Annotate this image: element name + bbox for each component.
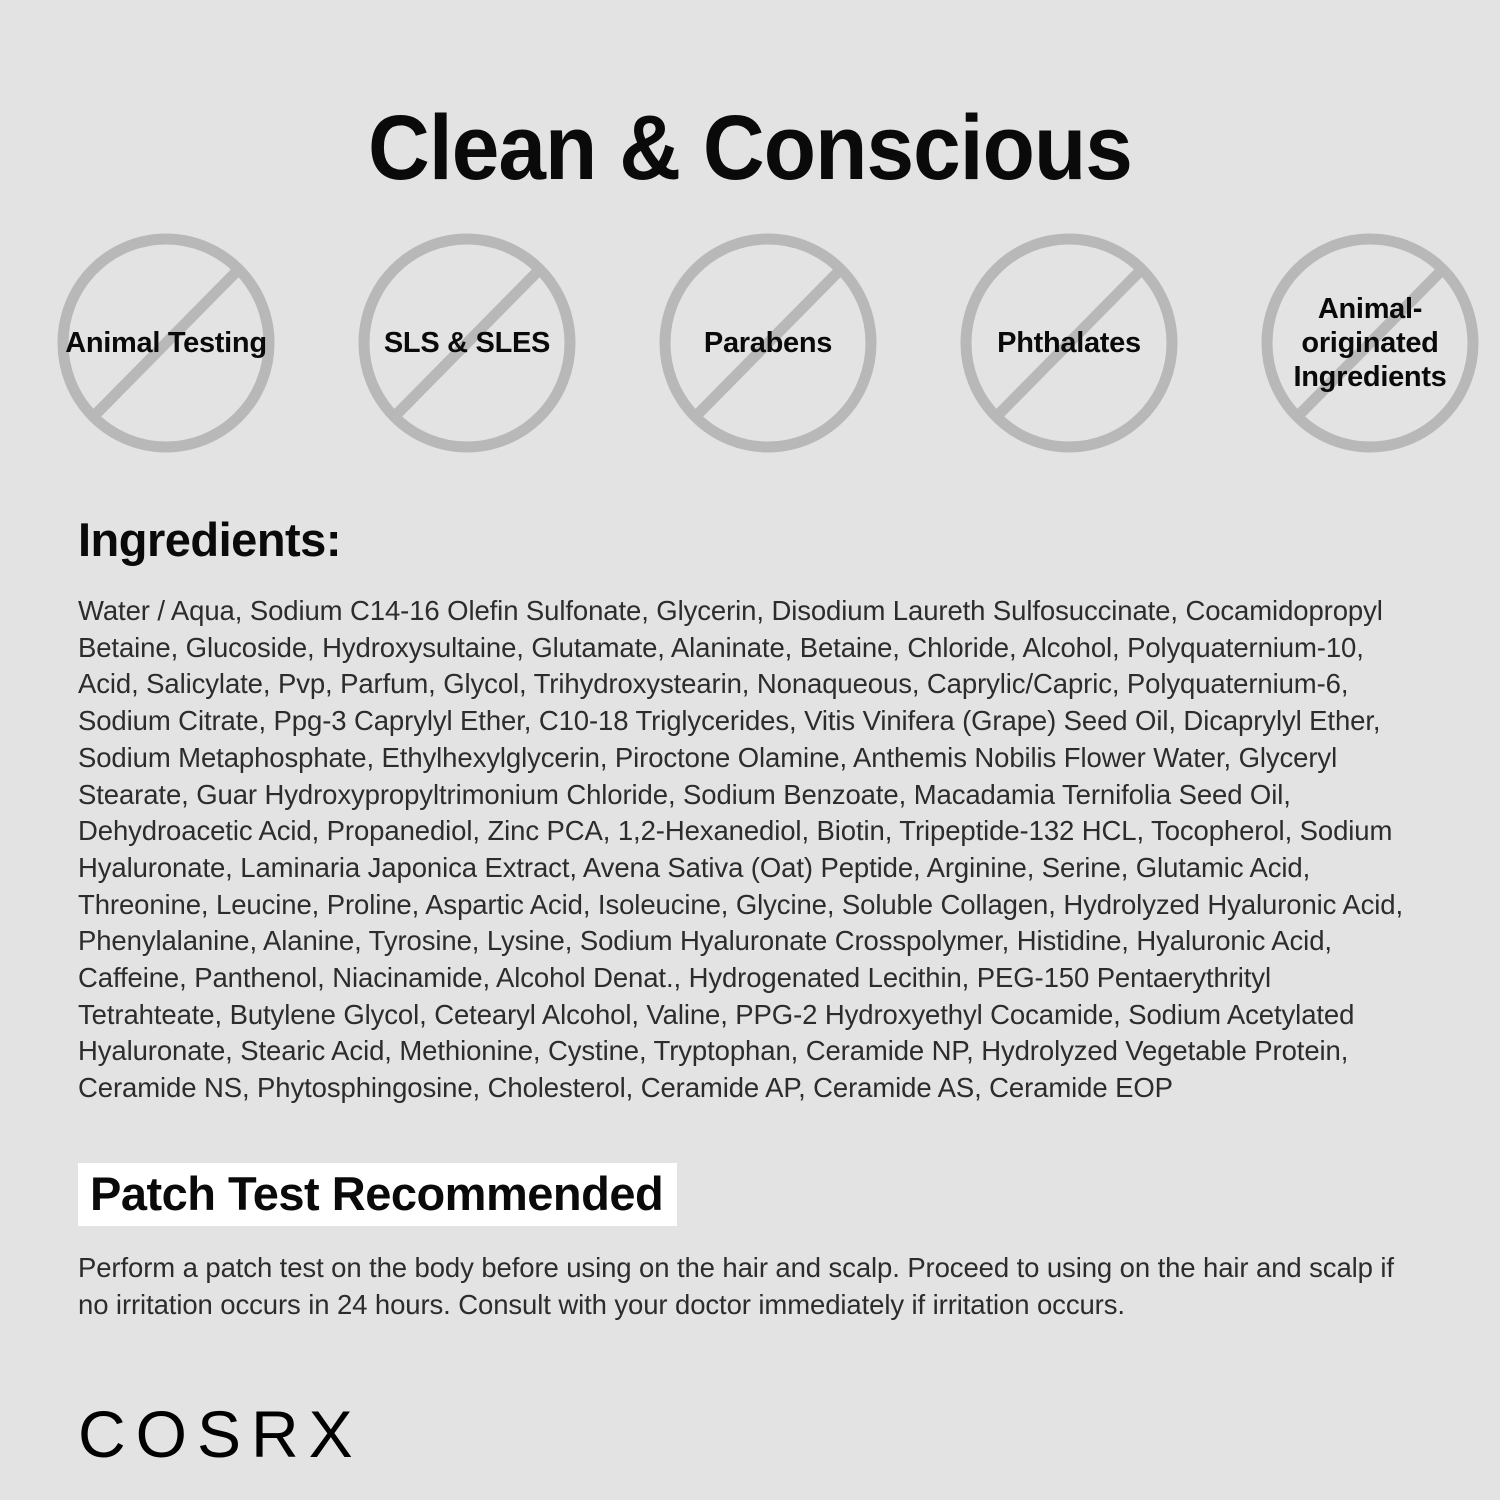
badge-parabens: Parabens — [658, 232, 878, 454]
badge-label: Phthalates — [997, 326, 1141, 360]
cosrx-logo: COSRX — [78, 1401, 1422, 1467]
badge-label: Animal- originated Ingredients — [1263, 292, 1478, 395]
patch-test-instructions: Perform a patch test on the body before … — [78, 1226, 1422, 1323]
ingredients-list: Water / Aqua, Sodium C14-16 Olefin Sulfo… — [78, 567, 1422, 1107]
badge-animal-testing: Animal Testing — [56, 232, 276, 454]
free-from-badge-row: Animal Testing SLS & SLES Parabens Phtha… — [0, 194, 1500, 454]
brand-logo-wrap: COSRX — [0, 1323, 1500, 1467]
ingredients-body-wrap: Water / Aqua, Sodium C14-16 Olefin Sulfo… — [0, 567, 1500, 1107]
patch-test-section: Patch Test Recommended — [0, 1107, 1500, 1226]
badge-label: SLS & SLES — [384, 326, 550, 360]
badge-phthalates: Phthalates — [959, 232, 1179, 454]
badge-label: Parabens — [704, 326, 832, 360]
badge-label: Animal Testing — [65, 326, 267, 360]
ingredients-heading: Ingredients: — [78, 512, 1422, 567]
patch-test-body-wrap: Perform a patch test on the body before … — [0, 1226, 1500, 1323]
page-title: Clean & Conscious — [53, 0, 1448, 194]
patch-test-heading: Patch Test Recommended — [78, 1163, 677, 1226]
badge-animal-originated-ingredients: Animal- originated Ingredients — [1260, 232, 1480, 454]
ingredients-section: Ingredients: — [0, 454, 1500, 567]
badge-sls-sles: SLS & SLES — [357, 232, 577, 454]
